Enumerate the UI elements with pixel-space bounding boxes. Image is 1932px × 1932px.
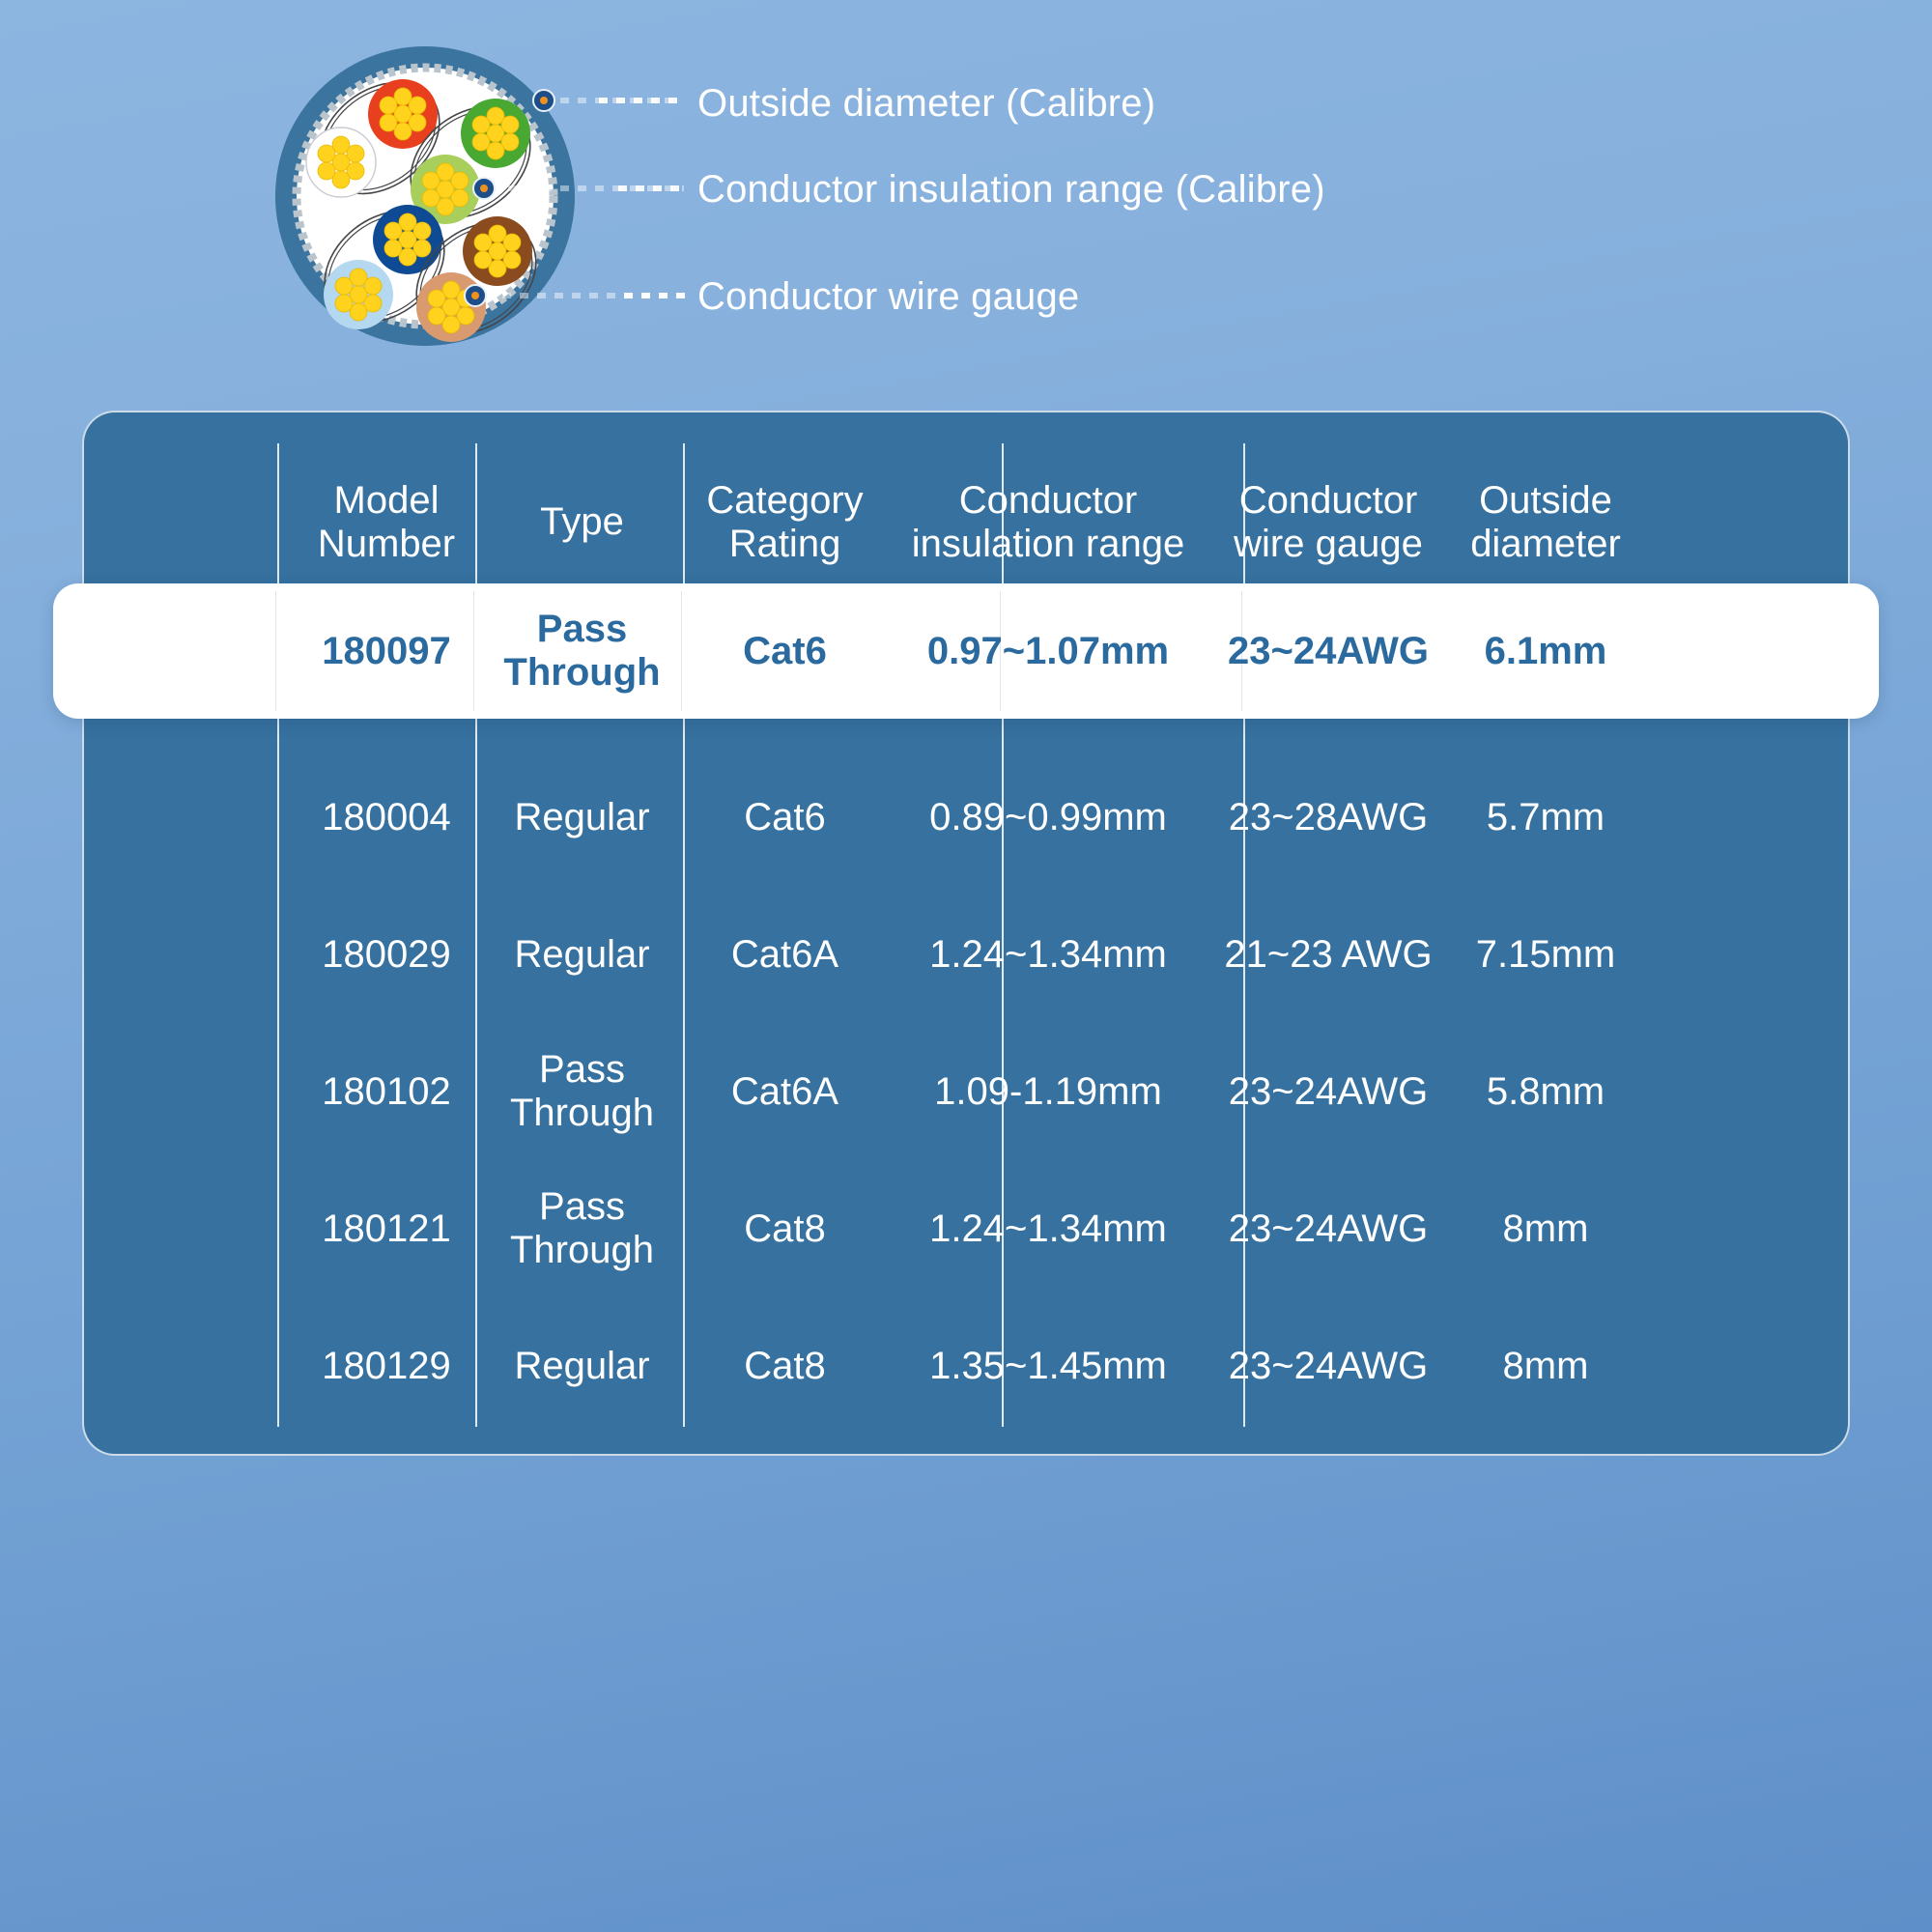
- cell-conductor-insulation-range: 1.09-1.19mm: [889, 1023, 1207, 1160]
- cell-model-number: 180004: [290, 749, 483, 886]
- cell-type: Pass Through: [483, 583, 681, 719]
- callout-label-outside-diameter: Outside diameter (Calibre): [697, 82, 1155, 126]
- cell-conductor-wire-gauge: 23~24AWG: [1207, 1160, 1449, 1297]
- cell-model-number: 180129: [290, 1297, 483, 1435]
- table-row[interactable]: 180121 Pass Through Cat8 1.24~1.34mm 23~…: [84, 1160, 1848, 1297]
- highlighted-table-row[interactable]: 180097 Pass Through Cat6 0.97~1.07mm 23~…: [53, 583, 1879, 719]
- cell-model-number: 180102: [290, 1023, 483, 1160]
- cell-conductor-wire-gauge: 23~28AWG: [1207, 749, 1449, 886]
- cell-type: Regular: [483, 749, 681, 886]
- column-header-type: Type: [483, 447, 681, 597]
- table-row[interactable]: 180029 Regular Cat6A 1.24~1.34mm 21~23 A…: [84, 886, 1848, 1023]
- cell-conductor-insulation-range: 1.35~1.45mm: [889, 1297, 1207, 1435]
- header-line-2: Rating: [729, 523, 841, 565]
- leader-line-wire-gauge-solid: [624, 293, 686, 298]
- cell-conductor-insulation-range: 0.97~1.07mm: [889, 583, 1207, 719]
- leader-line-insulation-range-solid: [618, 185, 686, 191]
- cell-conductor-insulation-range: 1.24~1.34mm: [889, 1160, 1207, 1297]
- header-line-2: Number: [318, 523, 455, 565]
- leader-line-outside-diameter-solid: [599, 98, 686, 103]
- cell-outside-diameter: 8mm: [1449, 1160, 1642, 1297]
- column-header-model-number: Model Number: [290, 447, 483, 597]
- cell-model-number: 180121: [290, 1160, 483, 1297]
- cell-outside-diameter: 6.1mm: [1449, 583, 1642, 719]
- cable-specification-table: Model Number Type Category Rating Conduc…: [82, 411, 1850, 1456]
- header-line-1: Model: [334, 479, 440, 522]
- cell-conductor-wire-gauge: 23~24AWG: [1207, 1023, 1449, 1160]
- cell-type: Pass Through: [483, 1023, 681, 1160]
- cell-conductor-insulation-range: 0.89~0.99mm: [889, 749, 1207, 886]
- cable-cross-section-icon: [266, 37, 584, 375]
- cell-type: Regular: [483, 1297, 681, 1435]
- header-line-2: insulation range: [912, 523, 1184, 565]
- callout-marker-outside-diameter: [532, 89, 555, 112]
- header-line-1: Outside: [1479, 479, 1612, 522]
- cell-conductor-wire-gauge: 23~24AWG: [1207, 1297, 1449, 1435]
- cell-category-rating: Cat8: [681, 1160, 889, 1297]
- cell-category-rating: Cat8: [681, 1297, 889, 1435]
- cell-conductor-wire-gauge: 21~23 AWG: [1207, 886, 1449, 1023]
- callout-label-conductor-wire-gauge: Conductor wire gauge: [697, 275, 1079, 319]
- callout-marker-insulation-range: [472, 177, 496, 200]
- table-row[interactable]: 180102 Pass Through Cat6A 1.09-1.19mm 23…: [84, 1023, 1848, 1160]
- cell-category-rating: Cat6A: [681, 1023, 889, 1160]
- cell-category-rating: Cat6A: [681, 886, 889, 1023]
- cell-model-number: 180029: [290, 886, 483, 1023]
- table-header-row: Model Number Type Category Rating Conduc…: [84, 447, 1848, 597]
- header-line-1: Conductor: [959, 479, 1138, 522]
- header-line-2: diameter: [1470, 523, 1621, 565]
- cell-type: Regular: [483, 886, 681, 1023]
- header-line-1: Category: [706, 479, 863, 522]
- callout-marker-wire-gauge: [464, 284, 487, 307]
- table-row[interactable]: 180004 Regular Cat6 0.89~0.99mm 23~28AWG…: [84, 749, 1848, 886]
- cable-diagram-area: Outside diameter (Calibre) Conductor ins…: [0, 0, 1932, 415]
- column-header-outside-diameter: Outside diameter: [1449, 447, 1642, 597]
- cell-category-rating: Cat6: [681, 749, 889, 886]
- header-line-1: Conductor: [1239, 479, 1418, 522]
- header-line-1: Type: [540, 500, 624, 543]
- cell-outside-diameter: 8mm: [1449, 1297, 1642, 1435]
- cell-conductor-wire-gauge: 23~24AWG: [1207, 583, 1449, 719]
- cell-outside-diameter: 7.15mm: [1449, 886, 1642, 1023]
- cell-category-rating: Cat6: [681, 583, 889, 719]
- column-header-category-rating: Category Rating: [681, 447, 889, 597]
- column-header-conductor-wire-gauge: Conductor wire gauge: [1207, 447, 1449, 597]
- cell-outside-diameter: 5.8mm: [1449, 1023, 1642, 1160]
- column-header-conductor-insulation-range: Conductor insulation range: [889, 447, 1207, 597]
- callout-label-conductor-insulation-range: Conductor insulation range (Calibre): [697, 168, 1325, 212]
- table-row[interactable]: 180129 Regular Cat8 1.35~1.45mm 23~24AWG…: [84, 1297, 1848, 1435]
- cell-outside-diameter: 5.7mm: [1449, 749, 1642, 886]
- cell-type: Pass Through: [483, 1160, 681, 1297]
- cell-conductor-insulation-range: 1.24~1.34mm: [889, 886, 1207, 1023]
- cell-model-number: 180097: [290, 583, 483, 719]
- header-line-2: wire gauge: [1234, 523, 1423, 565]
